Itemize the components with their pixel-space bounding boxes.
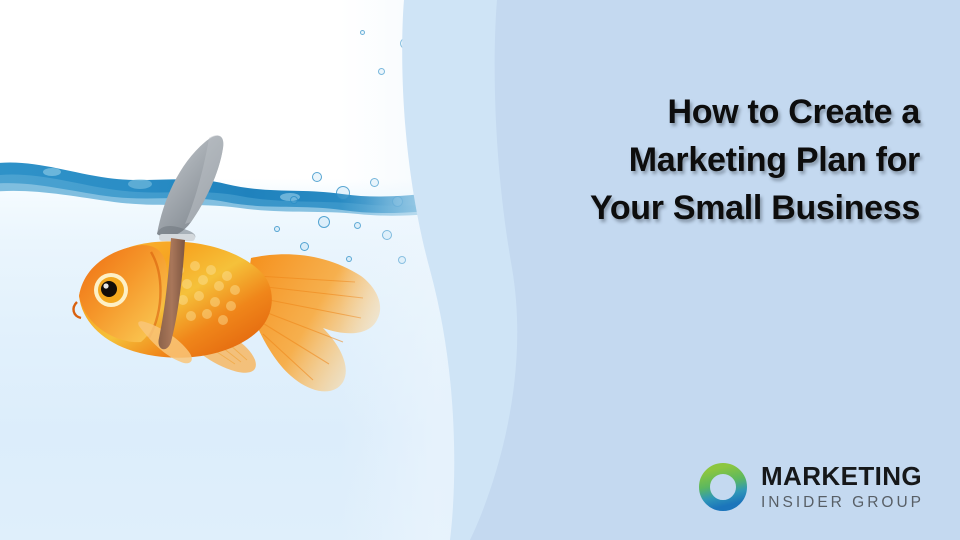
brand-logo-text: MARKETING INSIDER GROUP xyxy=(761,463,924,511)
title-line-1: How to Create a xyxy=(400,88,920,136)
page-title: How to Create a Marketing Plan for Your … xyxy=(400,88,920,232)
title-line-3: Your Small Business xyxy=(400,184,920,232)
brand-name: MARKETING xyxy=(761,463,924,489)
banner-canvas: How to Create a Marketing Plan for Your … xyxy=(0,0,960,540)
title-line-2: Marketing Plan for xyxy=(400,136,920,184)
background-curve-main xyxy=(0,0,960,540)
marketing-insider-group-ring-icon xyxy=(698,462,748,512)
brand-tagline: INSIDER GROUP xyxy=(761,495,924,511)
brand-logo[interactable]: MARKETING INSIDER GROUP xyxy=(698,462,924,512)
